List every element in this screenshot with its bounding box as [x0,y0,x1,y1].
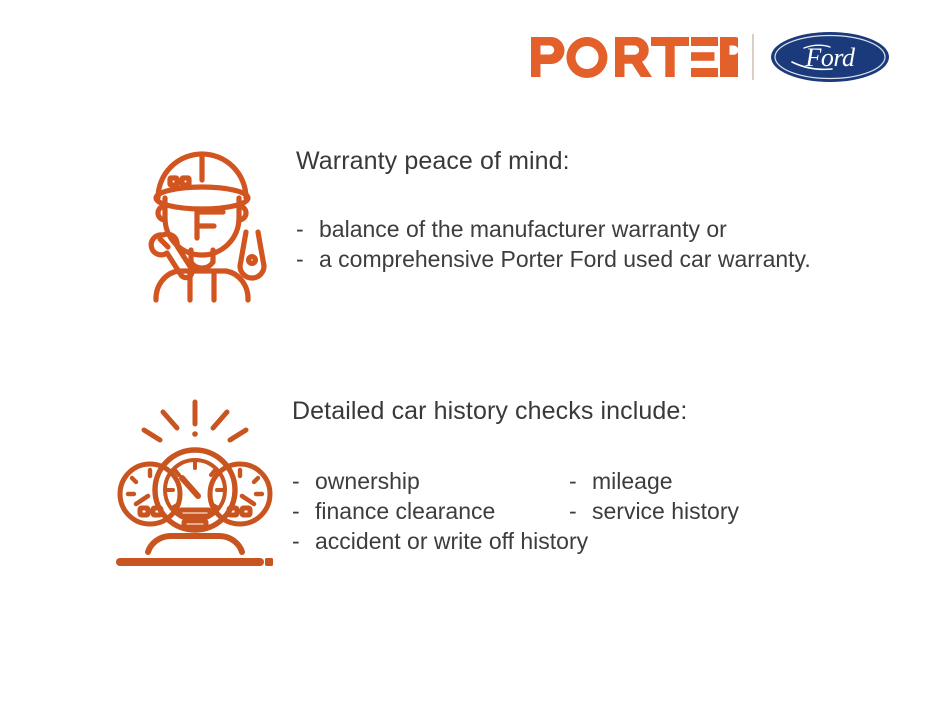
list-item-text: mileage [592,466,673,496]
bullet-dash: - [569,466,592,496]
list-item: - mileage [569,466,739,496]
list-item-text: ownership [315,466,420,496]
history-heading: Detailed car history checks include: [292,396,739,426]
porter-logo-icon [531,36,738,78]
history-checks-section: Detailed car history checks include: - o… [104,390,739,570]
brand-divider [752,34,754,80]
warranty-bullet-list: - balance of the manufacturer warranty o… [296,214,811,274]
history-text-block: Detailed car history checks include: - o… [292,390,739,556]
list-item: - ownership [292,466,569,496]
list-item-text: finance clearance [315,496,495,526]
bullet-dash: - [296,214,319,244]
list-item: - a comprehensive Porter Ford used car w… [296,244,811,274]
brand-header: Ford [0,24,938,90]
history-right-column: - mileage - service history [569,466,739,526]
bullet-dash: - [292,526,315,556]
mechanic-icon [118,140,286,305]
car-dashboard-gauges-icon [104,390,286,570]
list-item-text: service history [592,496,739,526]
list-item-text: balance of the manufacturer warranty or [319,214,727,244]
list-item-text: a comprehensive Porter Ford used car war… [319,244,811,274]
bullet-dash: - [296,244,319,274]
warranty-section: Warranty peace of mind: - balance of the… [118,140,811,305]
warranty-heading: Warranty peace of mind: [296,146,811,176]
history-full-width-row: - accident or write off history [292,526,739,556]
list-item: - balance of the manufacturer warranty o… [296,214,811,244]
bullet-dash: - [292,496,315,526]
history-bullet-lists: - ownership - finance clearance - mileag… [292,466,739,556]
warranty-text-block: Warranty peace of mind: - balance of the… [296,140,811,274]
list-item: - accident or write off history [292,526,739,556]
history-columns: - ownership - finance clearance - mileag… [292,466,739,526]
list-item-text: accident or write off history [315,526,588,556]
list-item: - finance clearance [292,496,569,526]
ford-logo-icon: Ford [770,31,890,83]
porter-wordmark [531,32,738,82]
bullet-dash: - [569,496,592,526]
bullet-dash: - [292,466,315,496]
history-left-column: - ownership - finance clearance [292,466,569,526]
list-item: - service history [569,496,739,526]
